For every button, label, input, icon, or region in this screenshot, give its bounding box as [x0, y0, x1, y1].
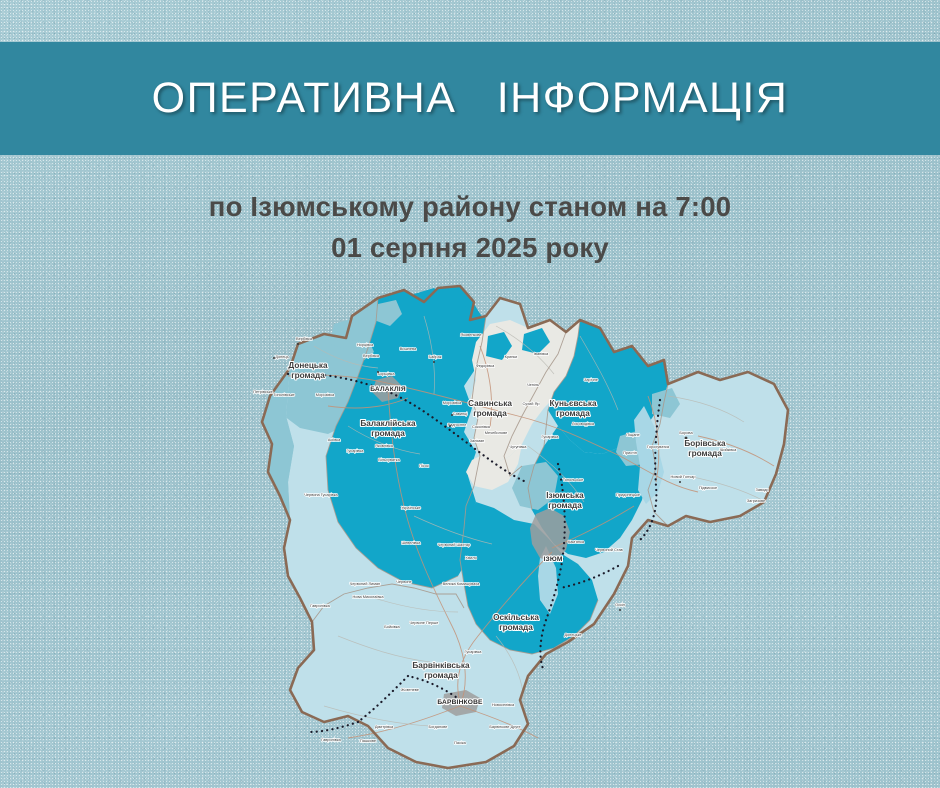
vil-label: Новий Гончар [671, 474, 696, 479]
vil-label: Гаврилівка [321, 737, 341, 742]
vil-label: Соколівка [472, 424, 491, 429]
hromada-label: громада [473, 409, 507, 418]
operational-info-poster: ОПЕРАТИВНА ІНФОРМАЦІЯ по Ізюмському райо… [0, 0, 940, 788]
city-label-barvinkove: БАРВІНКОВЕ [437, 699, 483, 706]
vil-label: Морозівка [316, 392, 335, 397]
vil-label: Червоне [396, 579, 411, 584]
subtitle-line-2: 01 серпня 2025 року [0, 227, 940, 268]
vil-label: Червоний Став [595, 547, 622, 552]
vil-label: Велика Комишуваха [443, 581, 481, 586]
vil-label: Хвиля [465, 555, 476, 560]
vil-label: Морозівка [443, 400, 462, 405]
vil-label: Борщівка [378, 371, 396, 376]
vil-label: Яковенкове [460, 332, 481, 337]
vil-label: Топольське [563, 477, 584, 482]
vil-label: Підвисоке [699, 485, 717, 490]
vil-label: Гусарівка [347, 448, 365, 453]
vil-label: Гаврилівка [310, 603, 330, 608]
vil-label: Новоселівка [492, 702, 515, 707]
vil-label: Заводи [755, 487, 768, 492]
vil-label: Бойківка [384, 624, 400, 629]
vil-label: Донець [275, 354, 288, 359]
vil-label: Норцівка [357, 342, 374, 347]
vil-label: Мечебилове [485, 430, 508, 435]
hromada-label: громада [548, 501, 582, 510]
hromada-label: Барвінківська [412, 661, 470, 670]
vil-label: Гусарівка [542, 434, 560, 439]
vil-label: Зарічне [584, 377, 598, 382]
vil-label: Нова Миколаївка [352, 594, 384, 599]
vil-label: Чугунівка [510, 444, 528, 449]
vil-label: Червона Гусарівка [304, 492, 338, 497]
vil-label: Заліман [470, 438, 485, 443]
vil-label: Барвінкове Друге [489, 724, 520, 729]
vil-label: Пристін [623, 450, 637, 455]
vil-label: Вербівка [363, 353, 380, 358]
vil-label: Іванівка [534, 351, 549, 356]
vil-label: Петрівське [253, 389, 273, 394]
vil-label: Червоний Лиман [350, 581, 380, 586]
hromada-label: Куньєвська [549, 399, 597, 408]
vil-label: Богданове [429, 724, 448, 729]
city-label-balakliia: БАЛАКЛІЯ [370, 386, 406, 393]
vil-label: Вільхуватка [378, 457, 400, 462]
vil-label: Вишнева [400, 346, 417, 351]
vil-label: Кам'янка [568, 539, 585, 544]
vil-label: Вербівка [296, 336, 313, 341]
hromada-label: Ізюмська [546, 491, 584, 500]
vil-label: Придонецьке [616, 492, 640, 497]
hromada-label: Борівська [684, 439, 726, 448]
vil-label: Лисоводівка [572, 421, 595, 426]
district-map: Вербівка Донець Петрівське Тополівське М… [228, 276, 812, 776]
hromada-label: громада [371, 429, 405, 438]
vil-label: Асіївка [328, 437, 341, 442]
vil-label: Оскіл [615, 602, 625, 607]
vil-label: Червоне Перше [410, 620, 439, 625]
vil-label: Пасіка [454, 740, 467, 745]
header-band: ОПЕРАТИВНА ІНФОРМАЦІЯ [0, 42, 940, 155]
vil-label: Гусарівка [465, 649, 483, 654]
subtitle: по Ізюмському району станом на 7:00 01 с… [0, 186, 940, 268]
vil-label: Жовтневе [401, 687, 419, 692]
vil-label: Федорівка [476, 363, 495, 368]
vil-label: Пісок [419, 463, 429, 468]
hromada-polygons [262, 286, 788, 768]
page-title: ОПЕРАТИВНА ІНФОРМАЦІЯ [152, 74, 789, 123]
vil-label: Тополівське [273, 392, 294, 397]
vil-label: Піщане [626, 432, 639, 437]
vil-label: Шевелівка [402, 540, 422, 545]
vil-label: Донецьке [564, 632, 581, 637]
hromada-label: Донецька [288, 361, 328, 370]
vil-label: Українське [401, 505, 420, 510]
vil-label: Яковлівка [375, 443, 394, 448]
hromada-label: Балаклійська [360, 419, 416, 428]
hromada-label: Оскільська [493, 613, 539, 622]
hromada-label: Савинська [468, 399, 512, 408]
city-label-izyum: ІЗЮМ [543, 556, 562, 563]
vil-label: Савинці [453, 411, 468, 416]
hromada-label: громада [499, 623, 533, 632]
hromada-label: громада [556, 409, 590, 418]
vil-label: Горохуватка [647, 444, 670, 449]
vil-label: Дмитрівка [375, 724, 394, 729]
hromada-label: громада [688, 449, 722, 458]
hromada-label: громада [291, 371, 325, 380]
vil-label: Загризове [747, 498, 765, 503]
vil-label: Сухий Яр [522, 401, 539, 406]
vil-label: Червоний Шахтар [438, 542, 470, 547]
hromada-label: громада [424, 671, 458, 680]
vil-label: Чепіль [527, 382, 539, 387]
vil-label: Борова [679, 430, 693, 435]
subtitle-line-1: по Ізюмському району станом на 7:00 [209, 191, 731, 222]
vil-label: Байрак [429, 354, 442, 359]
vil-label: Кринки [505, 354, 518, 359]
vil-label: Пашкове [360, 738, 376, 743]
